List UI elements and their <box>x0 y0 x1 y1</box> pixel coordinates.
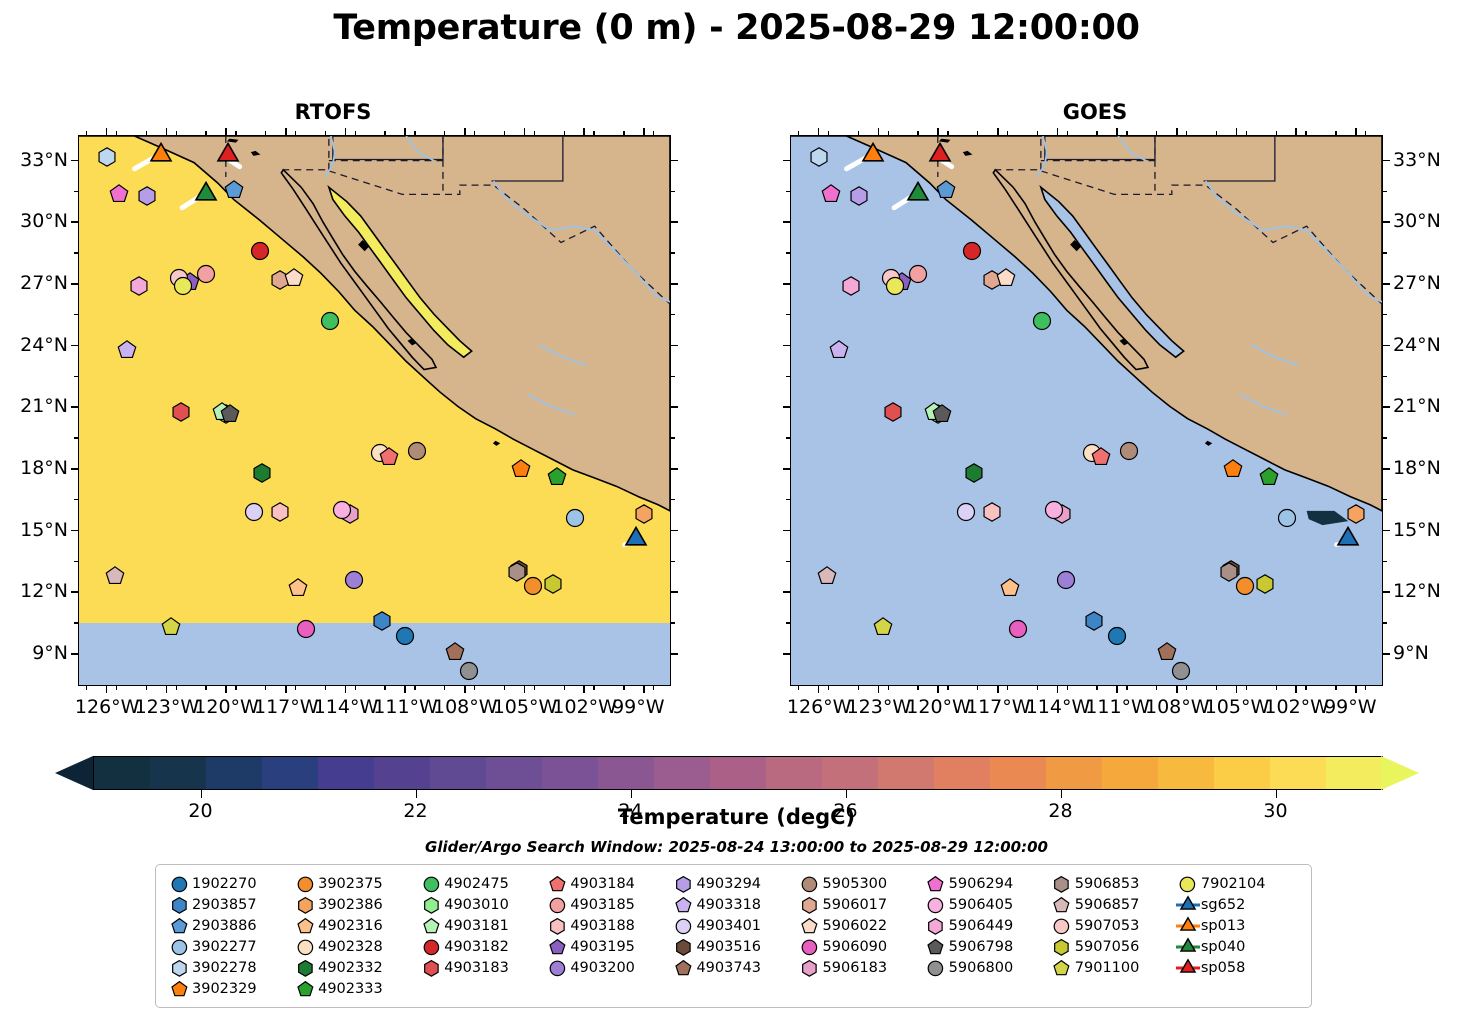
legend-item-5906798[interactable]: 5906798 <box>923 937 1049 957</box>
map-marker-5906405[interactable] <box>331 499 352 520</box>
map-marker-4902332[interactable] <box>963 462 984 483</box>
lat-label: 18°N <box>1393 457 1441 479</box>
lon-tick-minor <box>977 131 978 135</box>
lat-tick-minor <box>786 376 790 377</box>
map-marker-5906800[interactable] <box>1170 660 1191 681</box>
map-marker-2903857[interactable] <box>371 610 392 631</box>
legend-item-4903516[interactable]: 4903516 <box>670 937 796 957</box>
lon-tick-minor <box>265 131 266 135</box>
lon-tick-minor <box>798 686 799 690</box>
map-marker-5907056[interactable] <box>1254 573 1275 594</box>
lon-tick-minor <box>653 131 654 135</box>
legend-marker-5906405-icon <box>923 895 949 915</box>
legend-label: 7902104 <box>1201 876 1266 892</box>
legend-label: 4903195 <box>570 939 635 955</box>
map-marker-4902333[interactable] <box>546 467 567 488</box>
lon-label: 108°W <box>1145 696 1210 718</box>
map-marker-5906294[interactable] <box>820 183 841 204</box>
colorbar-band <box>990 757 1046 789</box>
lat-tick <box>671 345 678 347</box>
lat-tick-minor <box>74 622 78 623</box>
lat-tick-minor <box>786 191 790 192</box>
lon-label: 114°W <box>314 696 379 718</box>
legend-item-3902375[interactable]: 3902375 <box>292 874 418 894</box>
legend-item-5907056[interactable]: 5907056 <box>1049 937 1175 957</box>
lon-tick-minor <box>1335 131 1336 135</box>
lat-label: 24°N <box>0 334 68 356</box>
lon-tick <box>524 686 526 693</box>
lon-tick-minor <box>86 131 87 135</box>
map-marker-4903183[interactable] <box>882 401 903 422</box>
map-marker-5906022[interactable] <box>995 267 1016 288</box>
lat-tick <box>1383 283 1390 285</box>
legend-marker-5906294-icon <box>923 874 949 894</box>
map-marker-sp013[interactable] <box>149 142 173 166</box>
colorbar-band <box>934 757 990 789</box>
map-marker-5905300[interactable] <box>1119 440 1140 461</box>
map-marker-7902104[interactable] <box>172 275 193 296</box>
colorbar-tick <box>846 790 848 798</box>
colorbar-band <box>1158 757 1214 789</box>
legend-label: 4902316 <box>318 918 383 934</box>
legend-marker-5907056-icon <box>1049 937 1075 957</box>
lon-tick <box>166 128 168 135</box>
lon-tick-minor <box>1126 686 1127 690</box>
lon-tick-minor <box>1156 131 1157 135</box>
map-marker-2903886[interactable] <box>223 179 244 200</box>
lat-label: 24°N <box>1393 334 1441 356</box>
lon-tick-minor <box>947 686 948 690</box>
lon-tick <box>464 686 466 693</box>
legend-item-4903010[interactable]: 4903010 <box>418 895 544 915</box>
legend-item-4903188[interactable]: 4903188 <box>544 916 670 936</box>
colorbar-tick <box>631 790 633 798</box>
map-marker-4902475[interactable] <box>319 310 340 331</box>
legend-item-5906017[interactable]: 5906017 <box>797 895 923 915</box>
map-marker-3902278[interactable] <box>96 146 117 167</box>
legend-item-5905300[interactable]: 5905300 <box>797 874 923 894</box>
map-marker-7901100[interactable] <box>872 617 893 638</box>
map-marker-2903886[interactable] <box>935 179 956 200</box>
legend-item-5906853[interactable]: 5906853 <box>1049 874 1175 894</box>
colorbar[interactable]: 202224262830 <box>55 756 1418 790</box>
map-marker-sp058[interactable] <box>216 142 240 166</box>
map-marker-4902475[interactable] <box>1031 310 1052 331</box>
legend-item-3902329[interactable]: 3902329 <box>166 979 292 999</box>
panel-title-goes: GOES <box>945 100 1245 124</box>
legend-item-sg652[interactable]: sg652 <box>1175 895 1301 915</box>
lat-tick <box>671 530 678 532</box>
map-marker-1902270[interactable] <box>395 625 416 646</box>
lat-tick <box>671 468 678 470</box>
legend-item-4903181[interactable]: 4903181 <box>418 916 544 936</box>
legend-item-sp040[interactable]: sp040 <box>1175 937 1301 957</box>
map-marker-5906449[interactable] <box>840 275 861 296</box>
lon-tick-minor <box>176 131 177 135</box>
legend-label: 5906294 <box>949 876 1014 892</box>
legend-item-5906857[interactable]: 5906857 <box>1049 895 1175 915</box>
lon-tick <box>1295 128 1297 135</box>
colorbar-tick <box>1276 790 1278 798</box>
colorbar-band <box>542 757 598 789</box>
map-marker-4902332[interactable] <box>251 462 272 483</box>
map-marker-5906294[interactable] <box>108 183 129 204</box>
platform-legend[interactable]: 1902270 2903857 2903886 3902277 <box>155 864 1312 1008</box>
colorbar-band <box>318 757 374 789</box>
lon-tick-minor <box>116 686 117 690</box>
lat-label: 33°N <box>0 149 68 171</box>
legend-item-3902278[interactable]: 3902278 <box>166 958 292 978</box>
legend-label: 4903188 <box>570 918 635 934</box>
lon-tick-minor <box>564 686 565 690</box>
legend-item-5906090[interactable]: 5906090 <box>797 937 923 957</box>
map-marker-4903188[interactable] <box>981 501 1002 522</box>
lat-tick <box>1383 345 1390 347</box>
map-marker-5906853[interactable] <box>1218 561 1239 582</box>
legend-item-4903743[interactable]: 4903743 <box>670 958 796 978</box>
map-marker-5906449[interactable] <box>128 275 149 296</box>
colorbar-band <box>710 757 766 789</box>
legend-marker-sg652-icon <box>1175 895 1201 915</box>
lat-tick-minor <box>786 252 790 253</box>
goes-field <box>791 136 1382 685</box>
lon-tick <box>106 686 108 693</box>
legend-item-5907053[interactable]: 5907053 <box>1049 916 1175 936</box>
lat-tick-minor <box>786 622 790 623</box>
colorbar-band <box>878 757 934 789</box>
lat-label: 9°N <box>1393 642 1429 664</box>
lat-tick-minor <box>1383 622 1387 623</box>
map-marker-4903401[interactable] <box>243 501 264 522</box>
legend-label: 4902475 <box>444 876 509 892</box>
lat-tick <box>783 345 790 347</box>
lon-tick-minor <box>1007 131 1008 135</box>
lon-tick-minor <box>384 686 385 690</box>
legend-item-4902316[interactable]: 4902316 <box>292 916 418 936</box>
map-marker-5907056[interactable] <box>542 573 563 594</box>
lon-tick <box>643 128 645 135</box>
map-marker-3902329[interactable] <box>510 458 531 479</box>
map-marker-4903294[interactable] <box>136 185 157 206</box>
colorbar-label: Temperature (degC) <box>0 805 1473 829</box>
lat-label: 33°N <box>1393 149 1441 171</box>
lon-tick-minor <box>1186 686 1187 690</box>
lon-tick-minor <box>1156 686 1157 690</box>
colorbar-band <box>1270 757 1326 789</box>
lat-tick <box>71 591 78 593</box>
lon-tick-minor <box>355 686 356 690</box>
map-marker-sp040[interactable] <box>906 182 930 206</box>
lon-tick-minor <box>888 131 889 135</box>
legend-item-4903184[interactable]: 4903184 <box>544 874 670 894</box>
lon-tick-minor <box>235 131 236 135</box>
lat-tick-minor <box>1383 314 1387 315</box>
legend-marker-4903181-icon <box>418 916 444 936</box>
lat-tick <box>71 406 78 408</box>
legend-marker-4903200-icon <box>544 958 570 978</box>
panel-title-rtofs: RTOFS <box>183 100 483 124</box>
lon-tick <box>937 128 939 135</box>
legend-column-7: 5906294 5906405 5906449 5906798 <box>923 874 1049 999</box>
lat-tick <box>71 530 78 532</box>
lon-tick <box>997 128 999 135</box>
lon-label: 114°W <box>1026 696 1091 718</box>
lon-tick-minor <box>1096 131 1097 135</box>
lat-tick <box>671 221 678 223</box>
legend-item-sp058[interactable]: sp058 <box>1175 958 1301 978</box>
legend-item-5906022[interactable]: 5906022 <box>797 916 923 936</box>
legend-marker-5906857-icon <box>1049 895 1075 915</box>
map-marker-3902277[interactable] <box>1276 508 1297 529</box>
map-panel-rtofs[interactable] <box>78 135 671 686</box>
lon-tick <box>1116 686 1118 693</box>
lon-label: 102°W <box>552 696 617 718</box>
colorbar-tick <box>201 790 203 798</box>
lon-tick-minor <box>1246 686 1247 690</box>
lon-label: 126°W <box>75 696 140 718</box>
legend-item-5906294[interactable]: 5906294 <box>923 874 1049 894</box>
colorbar-band <box>1214 757 1270 789</box>
legend-item-3902386[interactable]: 3902386 <box>292 895 418 915</box>
legend-item-4903185[interactable]: 4903185 <box>544 895 670 915</box>
legend-item-2903857[interactable]: 2903857 <box>166 895 292 915</box>
legend-label: 2903857 <box>192 897 257 913</box>
legend-label: 5906090 <box>823 939 888 955</box>
legend-item-5906405[interactable]: 5906405 <box>923 895 1049 915</box>
lon-tick-minor <box>1246 131 1247 135</box>
map-marker-4903184[interactable] <box>1091 446 1112 467</box>
search-window-caption: Glider/Argo Search Window: 2025-08-24 13… <box>0 838 1473 856</box>
rtofs-coast-overlay <box>79 136 670 685</box>
lat-tick <box>1383 221 1390 223</box>
map-panel-goes[interactable] <box>790 135 1383 686</box>
map-marker-4903188[interactable] <box>269 501 290 522</box>
legend-label: 4903516 <box>696 939 761 955</box>
map-marker-sp058[interactable] <box>928 142 952 166</box>
map-marker-sp040[interactable] <box>194 182 218 206</box>
legend-item-2903886[interactable]: 2903886 <box>166 916 292 936</box>
lat-tick-minor <box>671 622 675 623</box>
lat-label: 15°N <box>1393 519 1441 541</box>
map-marker-4903184[interactable] <box>379 446 400 467</box>
map-marker-4903183[interactable] <box>170 401 191 422</box>
map-marker-4903401[interactable] <box>955 501 976 522</box>
lon-tick-minor <box>474 686 475 690</box>
lat-tick-minor <box>1383 499 1387 500</box>
map-marker-4903182[interactable] <box>961 240 982 261</box>
legend-item-4902328[interactable]: 4902328 <box>292 937 418 957</box>
map-marker-5906798[interactable] <box>931 403 952 424</box>
lon-tick-minor <box>295 686 296 690</box>
legend-marker-5906798-icon <box>923 937 949 957</box>
lat-tick-minor <box>74 314 78 315</box>
map-marker-sp013[interactable] <box>861 142 885 166</box>
legend-item-4902332[interactable]: 4902332 <box>292 958 418 978</box>
lon-tick-minor <box>474 131 475 135</box>
lat-tick-minor <box>671 437 675 438</box>
lon-tick <box>404 686 406 693</box>
lon-tick-minor <box>623 131 624 135</box>
lon-label: 123°W <box>847 696 912 718</box>
map-marker-3902386[interactable] <box>633 504 654 525</box>
map-marker-4903318[interactable] <box>116 339 137 360</box>
figure: Temperature (0 m) - 2025-08-29 12:00:00 … <box>0 0 1473 1014</box>
map-marker-4903318[interactable] <box>828 339 849 360</box>
lon-tick-minor <box>205 686 206 690</box>
map-marker-4903294[interactable] <box>848 185 869 206</box>
lat-label: 12°N <box>0 580 68 602</box>
map-marker-7901100[interactable] <box>160 617 181 638</box>
map-marker-4902316[interactable] <box>287 578 308 599</box>
legend-item-4903200[interactable]: 4903200 <box>544 958 670 978</box>
lon-tick-minor <box>116 131 117 135</box>
legend-marker-1902270-icon <box>166 874 192 894</box>
lon-tick <box>285 128 287 135</box>
legend-marker-4902328-icon <box>292 937 318 957</box>
legend-item-7902104[interactable]: 7902104 <box>1175 874 1301 894</box>
lon-tick <box>1295 686 1297 693</box>
legend-item-4903401[interactable]: 4903401 <box>670 916 796 936</box>
legend-marker-4903184-icon <box>544 874 570 894</box>
legend-item-1902270[interactable]: 1902270 <box>166 874 292 894</box>
lon-tick-minor <box>146 686 147 690</box>
map-marker-5906853[interactable] <box>506 561 527 582</box>
map-marker-7902104[interactable] <box>884 275 905 296</box>
legend-label: 2903886 <box>192 918 257 934</box>
legend-label: 3902386 <box>318 897 383 913</box>
lat-label: 18°N <box>0 457 68 479</box>
legend-item-3902277[interactable]: 3902277 <box>166 937 292 957</box>
colorbar-bands <box>93 756 1383 790</box>
lon-tick-minor <box>384 131 385 135</box>
legend-item-5906800[interactable]: 5906800 <box>923 958 1049 978</box>
legend-item-4902333[interactable]: 4902333 <box>292 979 418 999</box>
legend-label: 4903184 <box>570 876 635 892</box>
legend-label: 4903743 <box>696 960 761 976</box>
lon-tick-minor <box>1037 131 1038 135</box>
map-marker-sg652[interactable] <box>1336 527 1360 551</box>
map-marker-5906857[interactable] <box>104 565 125 586</box>
lat-tick <box>671 160 678 162</box>
lon-tick <box>106 128 108 135</box>
lon-tick <box>878 686 880 693</box>
map-marker-4902316[interactable] <box>999 578 1020 599</box>
legend-item-4903195[interactable]: 4903195 <box>544 937 670 957</box>
lat-tick <box>1383 530 1390 532</box>
legend-item-sp013[interactable]: sp013 <box>1175 916 1301 936</box>
lat-tick <box>1383 591 1390 593</box>
legend-item-4903182[interactable]: 4903182 <box>418 937 544 957</box>
lat-tick-minor <box>786 314 790 315</box>
legend-label: 5907053 <box>1075 918 1140 934</box>
lon-tick-minor <box>888 686 889 690</box>
legend-item-4902475[interactable]: 4902475 <box>418 874 544 894</box>
lon-tick <box>345 686 347 693</box>
legend-marker-3902277-icon <box>166 937 192 957</box>
lat-tick <box>1383 160 1390 162</box>
lon-tick-minor <box>414 131 415 135</box>
lon-tick-minor <box>1216 131 1217 135</box>
lat-tick <box>71 345 78 347</box>
lon-tick <box>1057 686 1059 693</box>
lat-tick-minor <box>786 437 790 438</box>
map-marker-2903857[interactable] <box>1083 610 1104 631</box>
lon-tick-minor <box>1007 686 1008 690</box>
map-marker-3902329[interactable] <box>1222 458 1243 479</box>
legend-column-5: 4903294 4903318 4903401 4903516 <box>670 874 796 999</box>
map-marker-sg652[interactable] <box>624 527 648 551</box>
lon-label: 111°W <box>1085 696 1150 718</box>
map-marker-4903182[interactable] <box>249 240 270 261</box>
legend-label: 1902270 <box>192 876 257 892</box>
legend-item-4903183[interactable]: 4903183 <box>418 958 544 978</box>
legend-label: 4903185 <box>570 897 635 913</box>
lon-label: 117°W <box>966 696 1031 718</box>
map-marker-5906800[interactable] <box>458 660 479 681</box>
map-marker-5906405[interactable] <box>1043 499 1064 520</box>
lon-tick-minor <box>798 131 799 135</box>
map-marker-4902333[interactable] <box>1258 467 1279 488</box>
lat-tick-minor <box>671 499 675 500</box>
colorbar-band <box>654 757 710 789</box>
legend-item-4903294[interactable]: 4903294 <box>670 874 796 894</box>
legend-marker-5906800-icon <box>923 958 949 978</box>
lat-label: 30°N <box>0 210 68 232</box>
lon-tick-minor <box>593 686 594 690</box>
map-marker-3902277[interactable] <box>564 508 585 529</box>
map-marker-5906090[interactable] <box>295 619 316 640</box>
legend-marker-4903182-icon <box>418 937 444 957</box>
lat-tick <box>783 591 790 593</box>
map-marker-3902386[interactable] <box>1345 504 1366 525</box>
legend-item-5906183[interactable]: 5906183 <box>797 958 923 978</box>
legend-marker-4903185-icon <box>544 895 570 915</box>
map-marker-4903200[interactable] <box>343 569 364 590</box>
legend-label: 4903294 <box>696 876 761 892</box>
map-marker-3902278[interactable] <box>808 146 829 167</box>
legend-label: 4903401 <box>696 918 761 934</box>
legend-item-7901100[interactable]: 7901100 <box>1049 958 1175 978</box>
lat-tick <box>71 653 78 655</box>
map-marker-5906798[interactable] <box>219 403 240 424</box>
legend-column-8: 5906853 5906857 5907053 5907056 <box>1049 874 1175 999</box>
legend-item-5906449[interactable]: 5906449 <box>923 916 1049 936</box>
map-marker-5906090[interactable] <box>1007 619 1028 640</box>
lat-tick-minor <box>671 252 675 253</box>
map-marker-4903200[interactable] <box>1055 569 1076 590</box>
legend-marker-2903886-icon <box>166 916 192 936</box>
colorbar-over-arrow <box>1381 756 1419 790</box>
lon-tick-minor <box>1305 131 1306 135</box>
legend-label: 4902328 <box>318 939 383 955</box>
legend-item-4903318[interactable]: 4903318 <box>670 895 796 915</box>
lon-tick <box>1236 128 1238 135</box>
map-marker-5905300[interactable] <box>407 440 428 461</box>
lon-tick-minor <box>828 686 829 690</box>
lon-tick-minor <box>858 131 859 135</box>
lon-tick-minor <box>1186 131 1187 135</box>
lon-tick <box>404 128 406 135</box>
colorbar-band <box>822 757 878 789</box>
lon-tick <box>643 686 645 693</box>
lat-tick-minor <box>1383 376 1387 377</box>
map-marker-1902270[interactable] <box>1107 625 1128 646</box>
lon-tick-minor <box>444 131 445 135</box>
map-marker-5906022[interactable] <box>283 267 304 288</box>
map-marker-5906857[interactable] <box>816 565 837 586</box>
lon-tick <box>1057 128 1059 135</box>
lon-tick <box>997 686 999 693</box>
